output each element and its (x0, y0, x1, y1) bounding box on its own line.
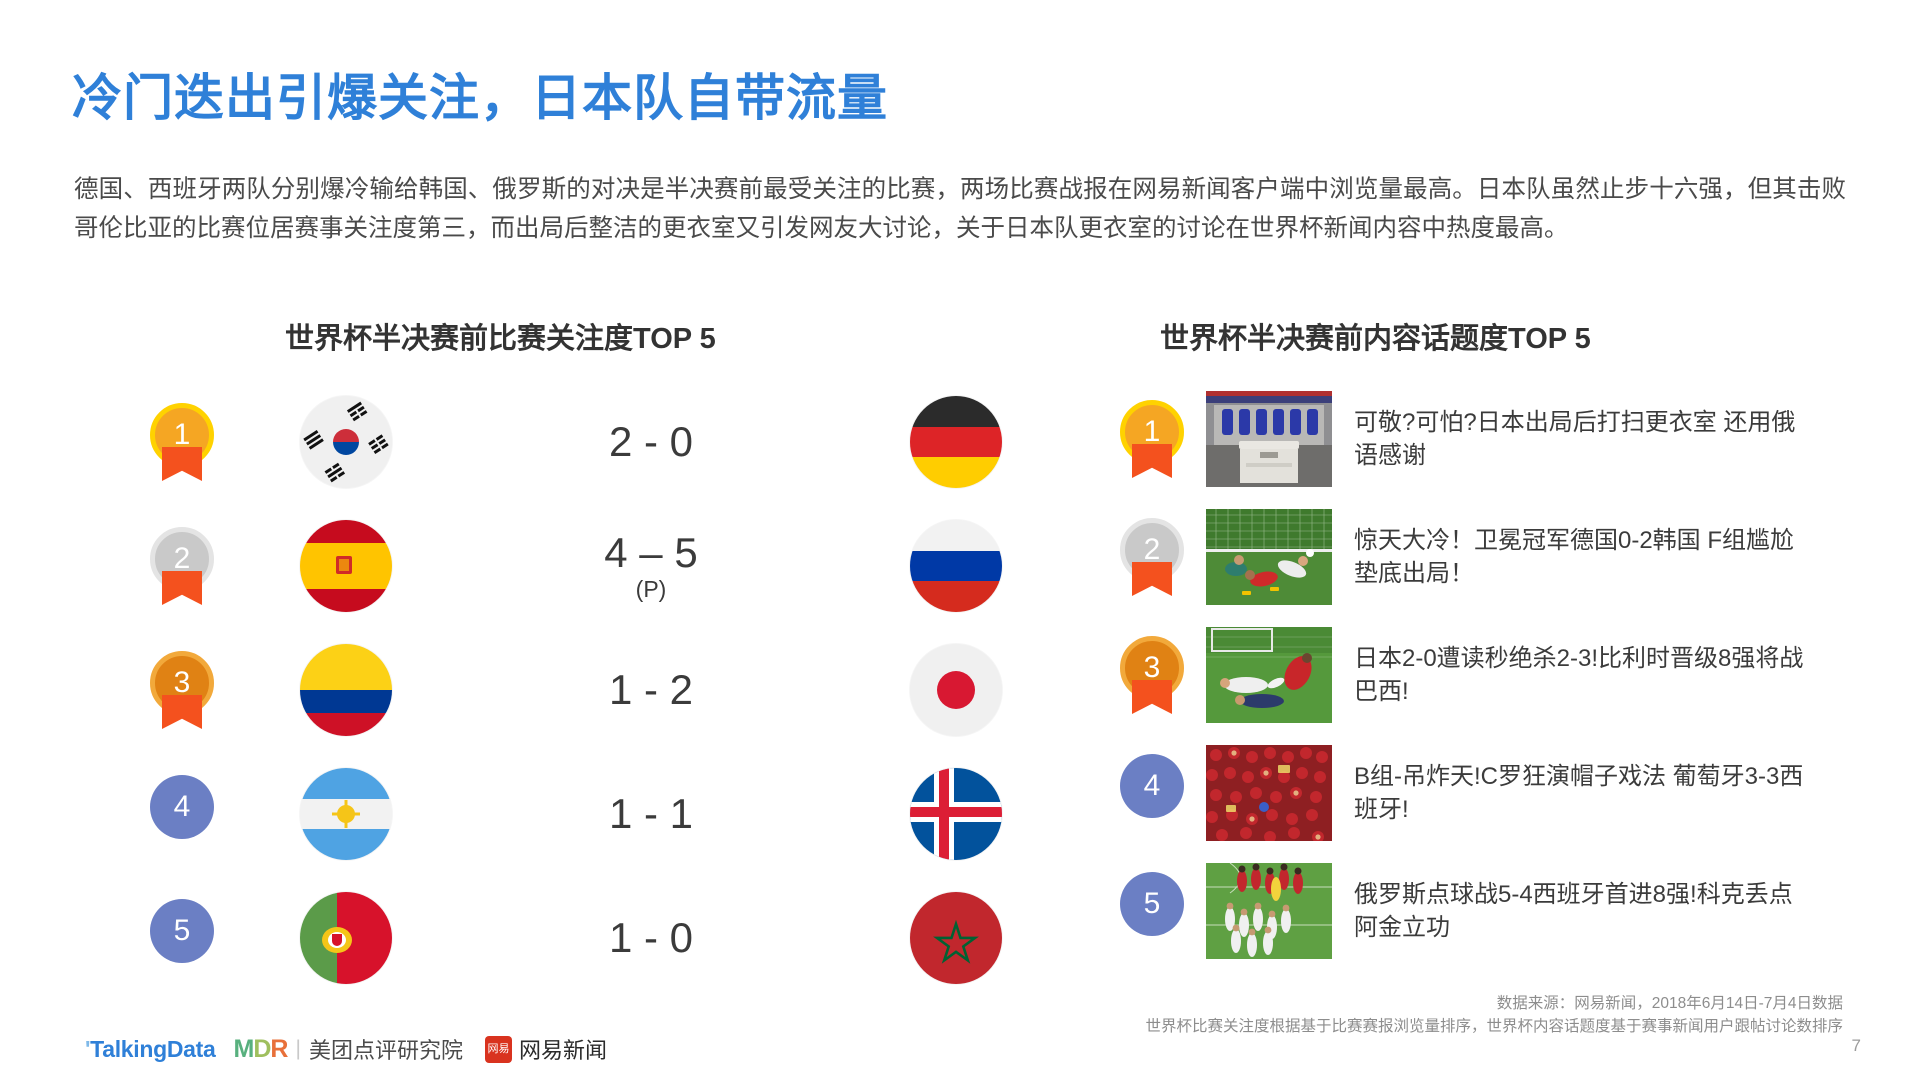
mdr-logo-m: M (234, 1035, 254, 1063)
match-score: 1 - 2 (392, 668, 910, 712)
source-line-2: 世界杯比赛关注度根据基于比赛赛报浏览量排序，世界杯内容话题度基于赛事新闻用户跟帖… (1145, 1015, 1843, 1038)
mdr-logo: MDR (234, 1035, 288, 1064)
match-score: 1 - 0 (392, 916, 910, 960)
page-number: 7 (1852, 1036, 1861, 1056)
table-row[interactable]: 2 4 – 5 (P) (150, 504, 1020, 628)
rank-badge-1: 1 (1120, 400, 1184, 478)
logo-separator: | (295, 1037, 300, 1061)
locker-room-photo (1206, 391, 1332, 487)
rank-badge-5: 5 (1120, 872, 1184, 950)
list-item[interactable]: 5 俄罗斯点球战5-4西班牙首进8强!科克丢点阿金立功 (1120, 852, 1880, 970)
score-text: 2 - 0 (609, 418, 693, 465)
flag-spain-icon (300, 520, 392, 612)
rank-number: 5 (1120, 872, 1184, 936)
table-row[interactable]: 1 2 - 0 (150, 380, 1020, 504)
score-text: 1 - 0 (609, 914, 693, 961)
ribbon-icon (162, 447, 202, 481)
footer-logos: 'TalkingData MDR | 美团点评研究院 网易 网易新闻 (85, 1032, 607, 1066)
topic-title: 可敬?可怕?日本出局后打扫更衣室 还用俄语感谢 (1354, 406, 1814, 472)
score-text: 1 - 1 (609, 790, 693, 837)
ribbon-icon (162, 571, 202, 605)
flag-russia-icon (910, 520, 1002, 612)
ribbon-icon (1132, 680, 1172, 714)
rank-badge-4: 4 (1120, 754, 1184, 832)
list-item[interactable]: 3 日本2-0遭读秒绝杀2-3!比利时晋级8强将战巴西! (1120, 616, 1880, 734)
mdr-logo-r: R (270, 1035, 287, 1063)
red-crowd-photo (1206, 745, 1332, 841)
right-section-heading: 世界杯半决赛前内容话题度TOP 5 (1160, 315, 1591, 357)
table-row[interactable]: 4 1 - 1 (150, 752, 1020, 876)
match-score: 1 - 1 (392, 792, 910, 836)
rank-badge-1: 1 (150, 403, 214, 481)
data-source-note: 数据来源：网易新闻，2018年6月14日-7月4日数据 世界杯比赛关注度根据基于… (1145, 992, 1843, 1038)
talkingdata-logo: 'TalkingData (85, 1036, 216, 1063)
list-item[interactable]: 4 B组-吊炸天!C罗狂演帽子戏法 葡萄牙3-3西班牙! (1120, 734, 1880, 852)
left-section-heading: 世界杯半决赛前比赛关注度TOP 5 (285, 315, 716, 357)
list-item[interactable]: 2 惊天大冷！卫冕冠军德国0-2韩国 F组尴尬垫底出局！ (1120, 498, 1880, 616)
match-score: 2 - 0 (392, 420, 910, 464)
page-title: 冷门迭出引爆关注，日本队自带流量 (72, 58, 888, 130)
flag-south-korea-icon (300, 396, 392, 488)
match-score: 4 – 5 (P) (392, 531, 910, 601)
rank-number: 4 (1120, 754, 1184, 818)
flag-colombia-icon (300, 644, 392, 736)
netease-badge-icon: 网易 (485, 1036, 512, 1063)
score-note: (P) (392, 577, 910, 601)
netease-news-logo: 网易新闻 (519, 1033, 607, 1065)
talkingdata-logo-text: TalkingData (90, 1036, 215, 1062)
rank-badge-2: 2 (1120, 518, 1184, 596)
ribbon-icon (1132, 444, 1172, 478)
flag-morocco-icon (910, 892, 1002, 984)
topic-ranking-list: 1 可敬?可怕?日本出局后打扫更衣室 还用俄语感谢 2 (1120, 380, 1880, 970)
match-ranking-list: 1 2 - 0 (150, 380, 1020, 1000)
topic-title: 俄罗斯点球战5-4西班牙首进8强!科克丢点阿金立功 (1354, 878, 1814, 944)
mdr-logo-d: D (253, 1035, 270, 1063)
rank-badge-3: 3 (150, 651, 214, 729)
meituan-research-logo: 美团点评研究院 (309, 1033, 463, 1065)
players-on-ground-photo (1206, 627, 1332, 723)
slide-page: 冷门迭出引爆关注，日本队自带流量 德国、西班牙两队分别爆冷输给韩国、俄罗斯的对决… (0, 0, 1921, 1080)
topic-title: 惊天大冷！卫冕冠军德国0-2韩国 F组尴尬垫底出局！ (1354, 524, 1814, 590)
goalmouth-tackle-photo (1206, 509, 1332, 605)
table-row[interactable]: 3 1 - 2 (150, 628, 1020, 752)
rank-badge-5: 5 (150, 899, 214, 977)
score-text: 1 - 2 (609, 666, 693, 713)
ribbon-icon (1132, 562, 1172, 596)
source-line-1: 数据来源：网易新闻，2018年6月14日-7月4日数据 (1145, 992, 1843, 1015)
ribbon-icon (162, 695, 202, 729)
flag-japan-icon (910, 644, 1002, 736)
rank-badge-3: 3 (1120, 636, 1184, 714)
rank-number: 5 (150, 899, 214, 963)
rank-badge-4: 4 (150, 775, 214, 853)
topic-title: 日本2-0遭读秒绝杀2-3!比利时晋级8强将战巴西! (1354, 642, 1814, 708)
flag-portugal-icon (300, 892, 392, 984)
score-text: 4 – 5 (604, 529, 697, 576)
rank-number: 4 (150, 775, 214, 839)
flag-germany-icon (910, 396, 1002, 488)
table-row[interactable]: 5 1 - 0 (150, 876, 1020, 1000)
flag-argentina-icon (300, 768, 392, 860)
rank-badge-2: 2 (150, 527, 214, 605)
topic-title: B组-吊炸天!C罗狂演帽子戏法 葡萄牙3-3西班牙! (1354, 760, 1814, 826)
list-item[interactable]: 1 可敬?可怕?日本出局后打扫更衣室 还用俄语感谢 (1120, 380, 1880, 498)
celebration-pitch-photo (1206, 863, 1332, 959)
intro-paragraph: 德国、西班牙两队分别爆冷输给韩国、俄罗斯的对决是半决赛前最受关注的比赛，两场比赛… (74, 170, 1846, 248)
flag-iceland-icon (910, 768, 1002, 860)
